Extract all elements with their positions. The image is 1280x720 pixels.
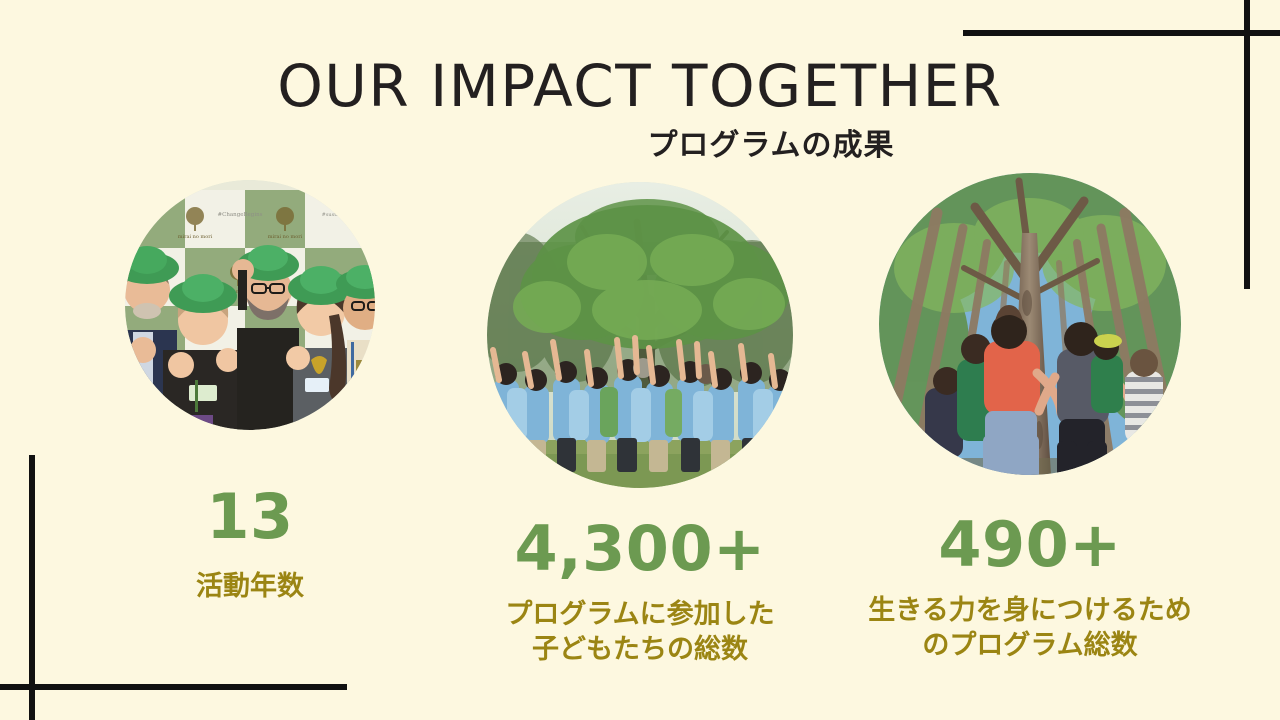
stats-row: mirai no mori mirai no mori mirai no mor… [0, 168, 1280, 688]
stat-label: 生きる力を身につけるため のプログラム総数 [868, 594, 1191, 663]
photo-children-under-tree [487, 182, 793, 488]
impact-slide: OUR IMPACT TOGETHER プログラムの成果 [0, 0, 1280, 720]
stat-item: mirai no mori mirai no mori mirai no mor… [50, 168, 450, 605]
subtitle-row: プログラムの成果 [0, 120, 1280, 164]
svg-text:#sustainsmori: #sustainsmori [322, 212, 359, 218]
stat-item: 4,300+ プログラムに参加した 子どもたちの総数 [450, 168, 830, 667]
page-subtitle: プログラムの成果 [647, 120, 894, 164]
forest-trunk-illustration [879, 173, 1181, 475]
stat-number: 4,300+ [514, 518, 765, 580]
stat-label: 活動年数 [196, 570, 304, 605]
children-tree-illustration [487, 182, 793, 488]
slide-header: OUR IMPACT TOGETHER [0, 56, 1280, 117]
photo-children-around-trunk [879, 173, 1181, 475]
svg-text:mirai no mori: mirai no mori [268, 234, 303, 240]
frame-top-right-horizontal [963, 30, 1280, 36]
svg-text:#mirainomori: #mirainomori [127, 212, 163, 218]
svg-text:mirai no mori: mirai no mori [178, 234, 213, 240]
svg-text:#ChangeBegins: #ChangeBegins [218, 212, 263, 218]
stat-number: 13 [206, 486, 293, 548]
photo-group-adults: mirai no mori mirai no mori mirai no mor… [125, 180, 375, 430]
page-title: OUR IMPACT TOGETHER [0, 56, 1280, 117]
stat-item: 490+ 生きる力を身につけるため のプログラム総数 [830, 168, 1230, 663]
group-photo-illustration: mirai no mori mirai no mori mirai no mor… [125, 180, 375, 430]
stat-number: 490+ [938, 514, 1121, 576]
stat-label: プログラムに参加した 子どもたちの総数 [505, 598, 774, 667]
